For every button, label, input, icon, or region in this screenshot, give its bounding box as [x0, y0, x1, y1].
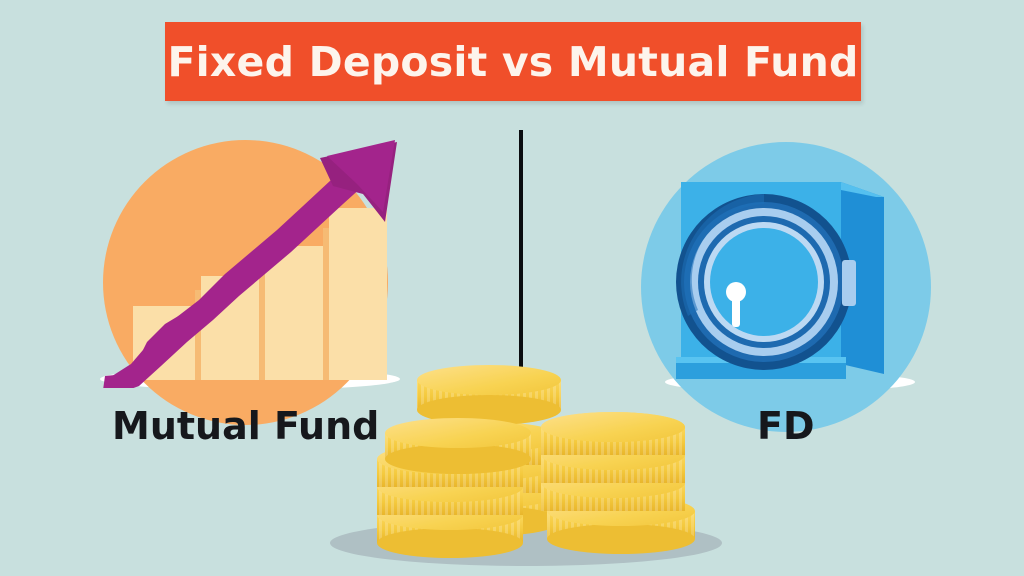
fd-label: FD — [757, 404, 815, 448]
mutual-fund-illustration — [95, 128, 435, 388]
safe-latch — [842, 260, 856, 306]
safe-door — [676, 194, 852, 370]
gold-coin-stacks-icon — [355, 355, 715, 570]
title-banner: Fixed Deposit vs Mutual Fund — [165, 22, 861, 101]
page-title: Fixed Deposit vs Mutual Fund — [167, 38, 858, 86]
growth-chart-icon — [95, 128, 435, 388]
coin-stack-left — [377, 418, 531, 558]
coin-stack-right — [541, 412, 695, 554]
infographic-canvas: Fixed Deposit vs Mutual Fund — [0, 0, 1024, 576]
vertical-divider — [519, 130, 523, 373]
mutual-fund-label: Mutual Fund — [112, 404, 379, 448]
